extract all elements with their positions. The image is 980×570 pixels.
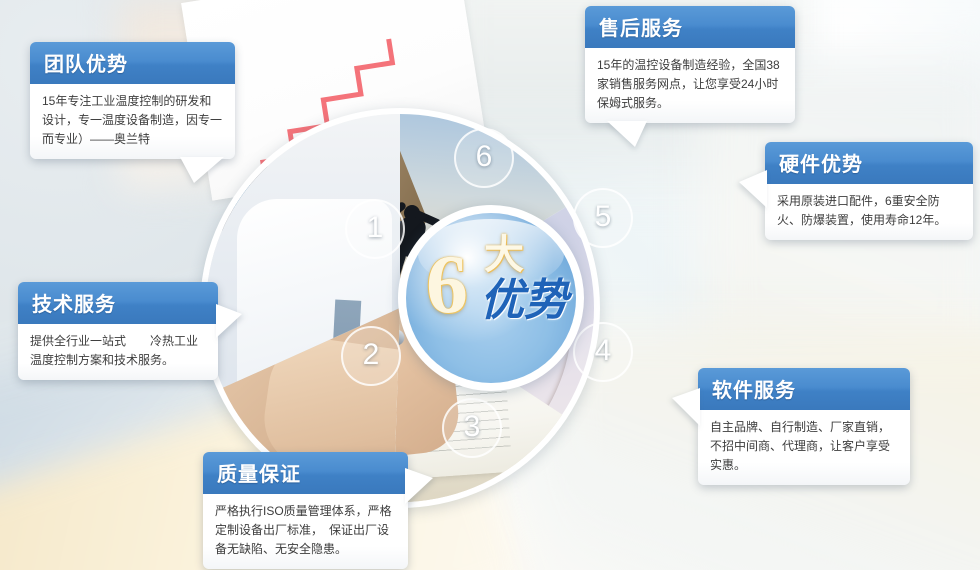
callout-body-after-sales: 15年的温控设备制造经验，全国38家销售服务网点，让您享受24小时保姆式服务。 [585,48,795,123]
callout-card-after-sales[interactable]: 售后服务 15年的温控设备制造经验，全国38家销售服务网点，让您享受24小时保姆… [585,6,795,123]
callout-card-quality[interactable]: 质量保证 严格执行ISO质量管理体系，严格定制设备出厂标准， 保证出厂设备无缺陷… [203,452,408,569]
badge-4[interactable]: 4 [573,322,633,382]
hub-number: 6 [426,243,468,327]
callout-title-technical: 技术服务 [18,282,218,324]
callout-card-hardware[interactable]: 硬件优势 采用原装进口配件，6重安全防火、防爆装置，使用寿命12年。 [765,142,973,240]
callout-tail [216,304,242,338]
callout-title-software: 软件服务 [698,368,910,410]
center-hub-inner: 6 大 优势 [406,213,576,383]
callout-body-technical: 提供全行业一站式 冷热工业温度控制方案和技术服务。 [18,324,218,380]
callout-title-hardware: 硬件优势 [765,142,973,184]
callout-body-hardware: 采用原装进口配件，6重安全防火、防爆装置，使用寿命12年。 [765,184,973,240]
callout-body-team: 15年专注工业温度控制的研发和设计，专一温度设备制造，因专一而专业）——奥兰特 [30,84,235,159]
callout-tail [672,388,700,426]
badge-3[interactable]: 3 [442,398,502,458]
callout-tail [739,170,767,208]
callout-title-after-sales: 售后服务 [585,6,795,48]
callout-card-software[interactable]: 软件服务 自主品牌、自行制造、厂家直销，不招中间商、代理商，让客户享受实惠。 [698,368,910,485]
callout-title-quality: 质量保证 [203,452,408,494]
badge-1[interactable]: 1 [345,199,405,259]
hub-advantage-label: 优势 [480,279,568,323]
badge-6[interactable]: 6 [454,128,514,188]
callout-title-team: 团队优势 [30,42,235,84]
callout-card-team[interactable]: 团队优势 15年专注工业温度控制的研发和设计，专一温度设备制造，因专一而专业）—… [30,42,235,159]
callout-card-technical[interactable]: 技术服务 提供全行业一站式 冷热工业温度控制方案和技术服务。 [18,282,218,380]
infographic-stage: INTC 440.86 [0,0,980,570]
callout-body-software: 自主品牌、自行制造、厂家直销，不招中间商、代理商，让客户享受实惠。 [698,410,910,485]
callout-tail [405,468,433,504]
callout-body-quality: 严格执行ISO质量管理体系，严格定制设备出厂标准， 保证出厂设备无缺陷、无安全隐… [203,494,408,569]
callout-tail [180,157,224,183]
hub-big-char: 大 [484,235,524,275]
badge-2[interactable]: 2 [341,326,401,386]
center-hub: 6 大 优势 [398,205,584,391]
callout-tail [607,121,647,147]
badge-5[interactable]: 5 [573,188,633,248]
